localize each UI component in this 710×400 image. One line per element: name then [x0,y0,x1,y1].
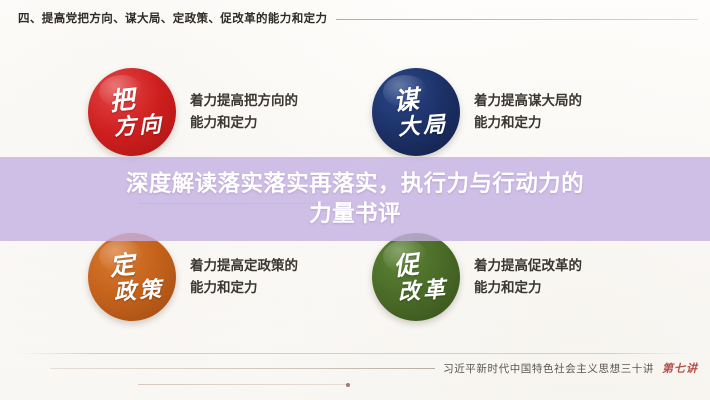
footer-source-text: 习近平新时代中国特色社会主义思想三十讲 [443,361,654,376]
badge-circle-mou-daju[interactable]: 谋 大局 [372,68,460,156]
badge-secondary-chars: 大局 [397,113,448,138]
caption-line-1: 着力提高定政策的 [190,255,298,277]
badge-circle-ba-fangxiang[interactable]: 把 方向 [88,68,176,156]
slide-footer: 习近平新时代中国特色社会主义思想三十讲 第七讲 [50,358,698,378]
footer-divider-line [50,368,435,369]
overlay-title-band: 深度解读落实落实再落实，执行力与行动力的 力量书评 [0,157,710,241]
caption-line-1: 着力提高把方向的 [190,90,298,112]
caption-line-2: 能力和定力 [190,112,298,134]
header-divider-line [336,19,698,20]
bottom-divider-line [18,353,692,354]
item-caption: 着力提高把方向的 能力和定力 [190,90,298,135]
badge-label: 把 方向 [100,88,164,137]
grid-item-ba-fangxiang[interactable]: 把 方向 着力提高把方向的 能力和定力 [88,68,388,156]
badge-secondary-chars: 改革 [397,278,448,303]
caption-line-1: 着力提高促改革的 [474,255,582,277]
connector-line-bottom [138,384,348,385]
overlay-title-text: 深度解读落实落实再落实，执行力与行动力的 力量书评 [126,169,584,229]
badge-secondary-chars: 方向 [113,113,164,138]
caption-line-2: 能力和定力 [190,277,298,299]
badge-label: 谋 大局 [384,88,448,137]
badge-secondary-chars: 政策 [113,278,164,303]
slide-canvas: 四、提高党把方向、谋大局、定政策、促改革的能力和定力 把 方向 着力提高把方向的… [0,0,710,400]
badge-label: 促 改革 [384,253,448,302]
item-caption: 着力提高谋大局的 能力和定力 [474,90,582,135]
overlay-title-line-1: 深度解读落实落实再落实，执行力与行动力的 [126,171,584,196]
item-caption: 着力提高促改革的 能力和定力 [474,255,582,300]
caption-line-2: 能力和定力 [474,112,582,134]
grid-item-mou-daju[interactable]: 谋 大局 着力提高谋大局的 能力和定力 [372,68,672,156]
badge-circle-cu-gaige[interactable]: 促 改革 [372,233,460,321]
badge-circle-ding-zhengce[interactable]: 定 政策 [88,233,176,321]
page-title: 四、提高党把方向、谋大局、定政策、促改革的能力和定力 [18,10,327,26]
grid-item-cu-gaige[interactable]: 促 改革 着力提高促改革的 能力和定力 [372,233,672,321]
overlay-title-line-2: 力量书评 [309,201,401,226]
item-caption: 着力提高定政策的 能力和定力 [190,255,298,300]
footer-seal-stamp: 第七讲 [662,360,698,376]
badge-label: 定 政策 [100,253,164,302]
caption-line-1: 着力提高谋大局的 [474,90,582,112]
grid-item-ding-zhengce[interactable]: 定 政策 着力提高定政策的 能力和定力 [88,233,388,321]
caption-line-2: 能力和定力 [474,277,582,299]
slide-header: 四、提高党把方向、谋大局、定政策、促改革的能力和定力 [18,6,698,30]
